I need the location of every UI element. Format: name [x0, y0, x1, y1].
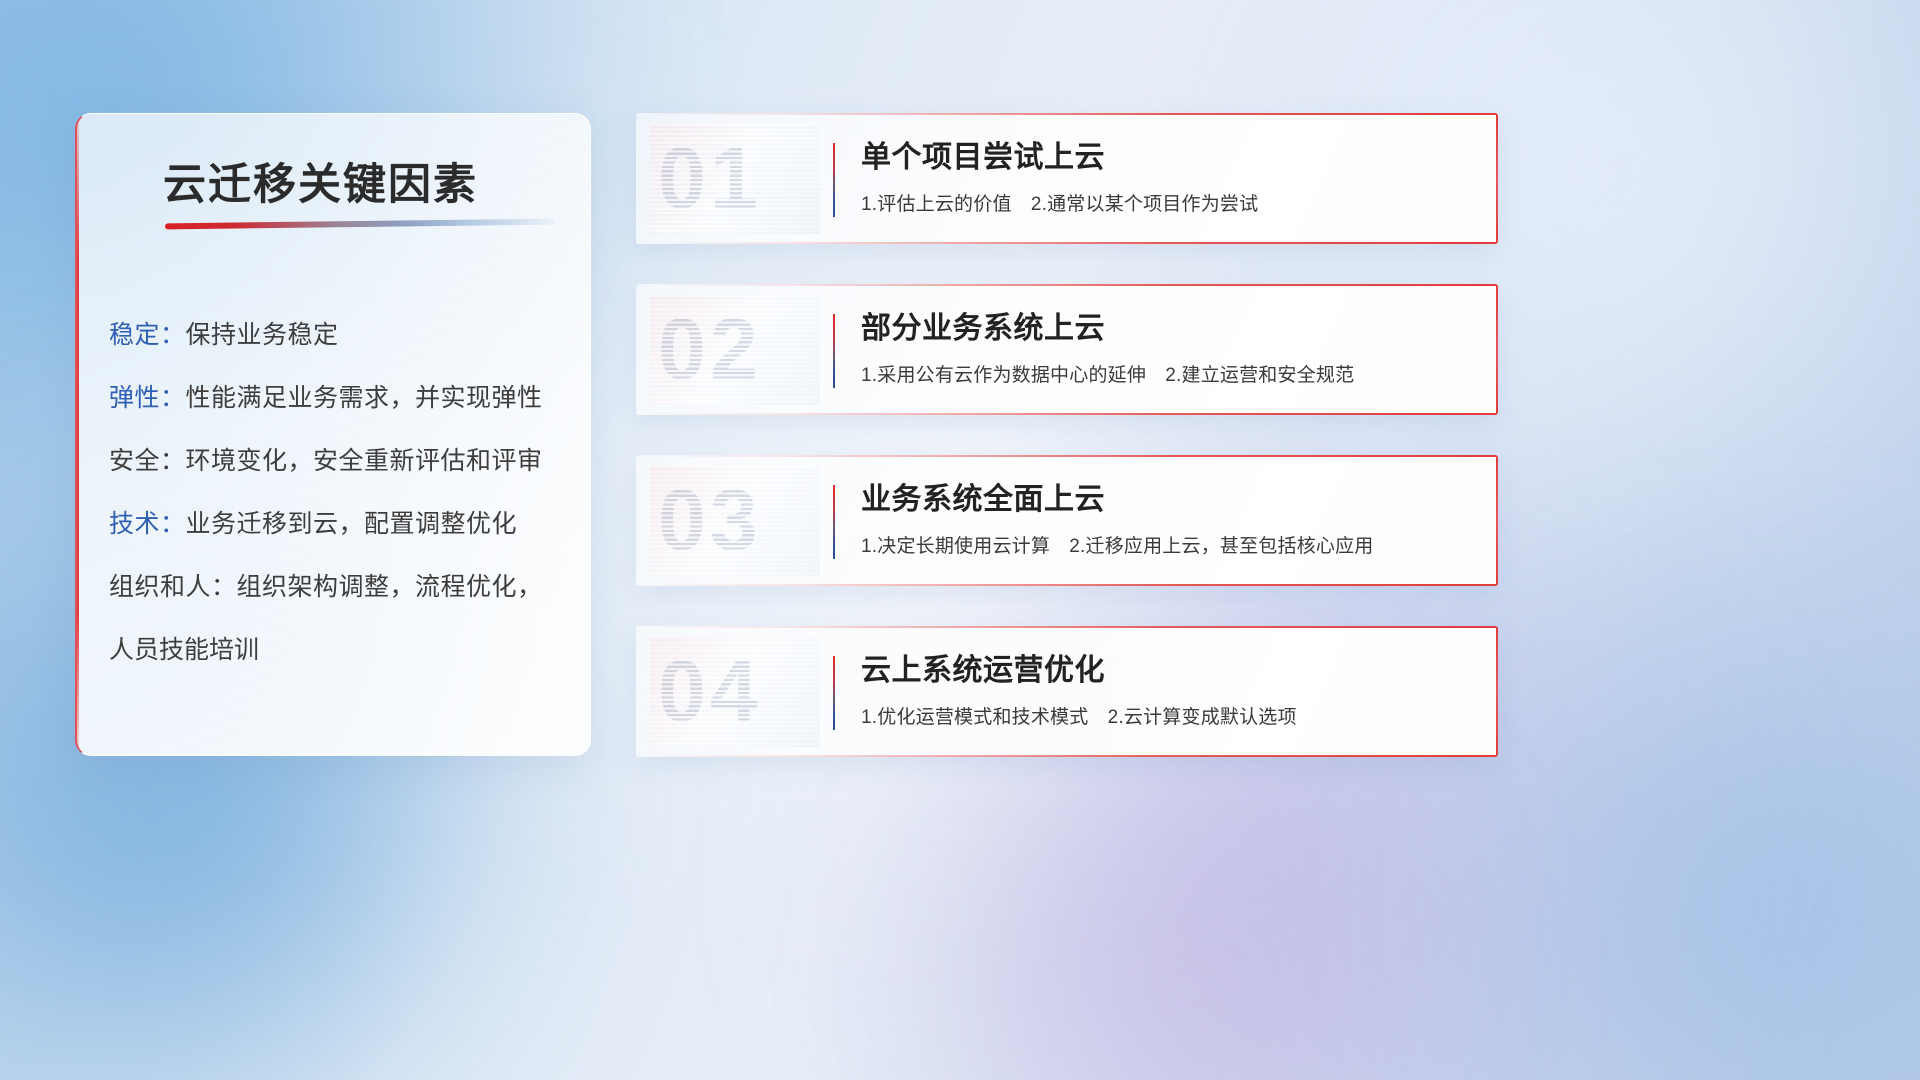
factor-text: 组织架构调整，流程优化，	[237, 573, 543, 601]
factor-text-continuation: 人员技能培训	[109, 619, 572, 682]
step-card-03[interactable]: 03业务系统全面上云1.决定长期使用云计算 2.迁移应用上云，甚至包括核心应用	[636, 455, 1498, 586]
factor-label: 组织和人：	[109, 573, 237, 601]
card-bottom-border	[636, 413, 1498, 415]
factor-label: 弹性：	[109, 384, 186, 412]
factor-label: 稳定：	[109, 321, 186, 349]
list-item: 组织和人：组织架构调整，流程优化，	[109, 556, 572, 619]
step-divider-bar	[833, 143, 835, 217]
page-title: 云迁移关键因素	[163, 150, 478, 212]
step-number-ghost: 01	[658, 129, 762, 228]
card-right-border	[1496, 626, 1498, 757]
factor-label: 技术：	[109, 510, 186, 538]
step-description: 1.评估上云的价值 2.通常以某个项目作为尝试	[861, 189, 1474, 216]
card-bottom-border	[636, 242, 1498, 244]
card-right-border	[1496, 113, 1498, 244]
card-top-border	[636, 455, 1498, 457]
factor-text: 保持业务稳定	[186, 321, 339, 349]
step-description: 1.采用公有云作为数据中心的延伸 2.建立运营和安全规范	[861, 360, 1474, 387]
step-title: 单个项目尝试上云	[861, 137, 1474, 179]
factor-label: 安全：	[109, 447, 186, 475]
factor-text: 业务迁移到云，配置调整优化	[186, 510, 518, 538]
card-bottom-border	[636, 584, 1498, 586]
step-card-02[interactable]: 02部分业务系统上云1.采用公有云作为数据中心的延伸 2.建立运营和安全规范	[636, 284, 1498, 415]
key-factors-panel: 云迁移关键因素 稳定：保持业务稳定弹性：性能满足业务需求，并实现弹性安全：环境变…	[75, 113, 591, 756]
step-number-ghost: 04	[658, 642, 762, 741]
step-divider-bar	[833, 485, 835, 559]
title-underline-rule	[165, 219, 555, 230]
step-text-block: 部分业务系统上云1.采用公有云作为数据中心的延伸 2.建立运营和安全规范	[861, 308, 1474, 387]
step-text-block: 业务系统全面上云1.决定长期使用云计算 2.迁移应用上云，甚至包括核心应用	[861, 479, 1474, 558]
step-card-01[interactable]: 01单个项目尝试上云1.评估上云的价值 2.通常以某个项目作为尝试	[636, 113, 1498, 244]
step-title: 业务系统全面上云	[861, 479, 1474, 521]
step-description: 1.决定长期使用云计算 2.迁移应用上云，甚至包括核心应用	[861, 531, 1474, 558]
card-right-border	[1496, 284, 1498, 415]
step-card-04[interactable]: 04云上系统运营优化1.优化运营模式和技术模式 2.云计算变成默认选项	[636, 626, 1498, 757]
step-divider-bar	[833, 656, 835, 730]
list-item: 安全：环境变化，安全重新评估和评审	[109, 430, 572, 493]
list-item: 技术：业务迁移到云，配置调整优化	[109, 493, 572, 556]
step-number-ghost: 03	[658, 471, 762, 570]
step-number-ghost: 02	[658, 300, 762, 399]
step-description: 1.优化运营模式和技术模式 2.云计算变成默认选项	[861, 702, 1474, 729]
card-right-border	[1496, 455, 1498, 586]
card-top-border	[636, 284, 1498, 286]
card-bottom-border	[636, 755, 1498, 757]
factor-text: 性能满足业务需求，并实现弹性	[186, 384, 543, 412]
factor-text: 环境变化，安全重新评估和评审	[186, 447, 543, 475]
list-item: 弹性：性能满足业务需求，并实现弹性	[109, 367, 572, 430]
step-text-block: 云上系统运营优化1.优化运营模式和技术模式 2.云计算变成默认选项	[861, 650, 1474, 729]
step-divider-bar	[833, 314, 835, 388]
step-text-block: 单个项目尝试上云1.评估上云的价值 2.通常以某个项目作为尝试	[861, 137, 1474, 216]
step-title: 部分业务系统上云	[861, 308, 1474, 350]
list-item: 稳定：保持业务稳定	[109, 304, 572, 367]
migration-steps-list: 01单个项目尝试上云1.评估上云的价值 2.通常以某个项目作为尝试02部分业务系…	[636, 113, 1498, 797]
card-top-border	[636, 626, 1498, 628]
step-title: 云上系统运营优化	[861, 650, 1474, 692]
key-factors-list: 稳定：保持业务稳定弹性：性能满足业务需求，并实现弹性安全：环境变化，安全重新评估…	[109, 304, 572, 682]
card-top-border	[636, 113, 1498, 115]
